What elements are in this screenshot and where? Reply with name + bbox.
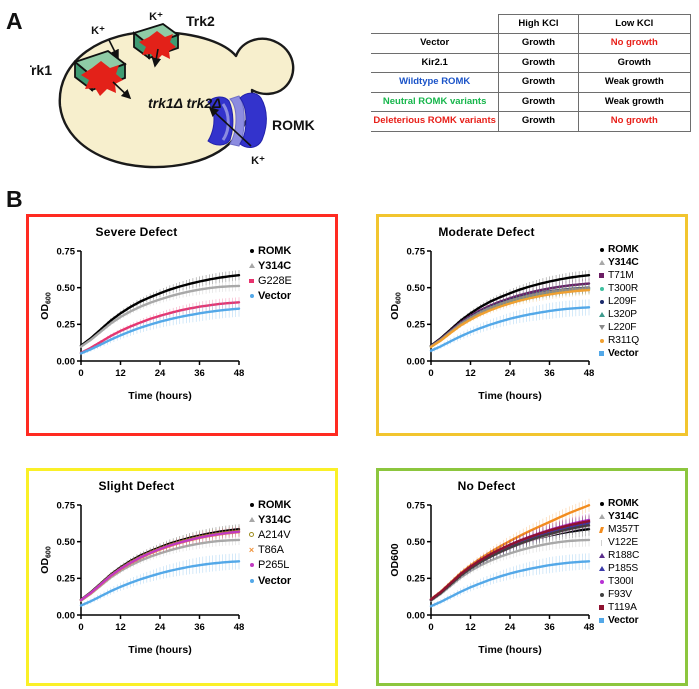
legend-item: T119A	[595, 601, 681, 614]
legend-marker-sq-icon	[599, 351, 604, 356]
legend-marker-wrap	[595, 248, 608, 252]
svg-text:0.50: 0.50	[407, 537, 426, 548]
legend-item: T300I	[595, 575, 681, 588]
legend-item: ROMK	[595, 497, 681, 510]
legend-marker-wrap	[595, 553, 608, 558]
svg-text:24: 24	[505, 368, 516, 379]
legend-label: T119A	[608, 602, 637, 613]
table-row: Wildtype ROMKGrowthWeak growth	[371, 73, 691, 92]
legend-item: Y314C	[595, 510, 681, 523]
legend-label: R311Q	[608, 335, 639, 346]
legend-marker-dot-icon	[250, 294, 254, 298]
table-row: Neutral ROMK variantsGrowthWeak growth	[371, 92, 691, 111]
svg-text:0.50: 0.50	[57, 537, 76, 548]
legend-label: L209F	[608, 296, 636, 307]
legend-marker-wrap	[595, 540, 608, 546]
svg-text:12: 12	[115, 368, 126, 379]
legend-marker-sq-icon	[599, 605, 604, 610]
legend-nodefect: ROMKY314CM357TV122ER188CP185ST300IF93VT1…	[595, 497, 681, 627]
svg-text:OD600: OD600	[39, 292, 53, 320]
svg-text:OD600: OD600	[39, 546, 53, 574]
chart-title: Severe Defect	[29, 225, 244, 239]
legend-marker-tick-icon	[601, 540, 603, 546]
chart-title: Slight Defect	[29, 479, 244, 493]
svg-text:36: 36	[194, 368, 205, 379]
trk2-label: Trk2	[186, 13, 215, 29]
legend-label: T86A	[258, 544, 284, 556]
svg-text:12: 12	[465, 622, 476, 633]
legend-item: R311Q	[595, 334, 681, 347]
table-row-label: Neutral ROMK variants	[371, 92, 499, 111]
legend-label: Vector	[258, 290, 291, 302]
svg-text:Time (hours): Time (hours)	[478, 644, 541, 656]
legend-marker-dot-icon	[600, 300, 604, 304]
legend-marker-tri-icon	[599, 566, 605, 571]
legend-label: V122E	[608, 537, 638, 548]
legend-marker-wrap	[245, 249, 258, 253]
k-label-trk2: K⁺	[149, 11, 163, 23]
legend-item: P185S	[595, 562, 681, 575]
legend-item: L220F	[595, 321, 681, 334]
legend-marker-tri-icon	[249, 263, 255, 268]
legend-item: M357T	[595, 523, 681, 536]
legend-marker-dot-icon	[600, 248, 604, 252]
legend-item: A214V	[245, 527, 331, 542]
svg-text:0.00: 0.00	[407, 356, 426, 367]
legend-label: ROMK	[258, 245, 291, 257]
legend-label: P185S	[608, 563, 638, 574]
legend-marker-dot-icon	[250, 579, 254, 583]
legend-marker-wrap: ×	[245, 546, 258, 555]
svg-text:OD600: OD600	[389, 292, 403, 320]
legend-marker-wrap	[245, 263, 258, 268]
legend-marker-wrap	[595, 260, 608, 265]
legend-item: F93V	[595, 588, 681, 601]
legend-label: Vector	[258, 575, 291, 587]
svg-text:48: 48	[584, 622, 595, 633]
legend-marker-wrap	[595, 566, 608, 571]
legend-item: ×T86A	[245, 543, 331, 558]
legend-marker-wrap	[245, 563, 258, 567]
legend-marker-wrap	[245, 517, 258, 522]
svg-text:24: 24	[155, 368, 166, 379]
legend-marker-wrap	[595, 312, 608, 317]
table-header-row: High KCl Low KCl	[371, 15, 691, 34]
table-cell-low-kcl: Weak growth	[578, 92, 690, 111]
svg-text:48: 48	[234, 368, 245, 379]
legend-marker-wrap	[595, 351, 608, 356]
legend-marker-wrap	[595, 580, 608, 584]
legend-label: ROMK	[258, 499, 291, 511]
svg-text:0: 0	[78, 622, 83, 633]
legend-item: T71M	[595, 269, 681, 282]
legend-label: T71M	[608, 270, 634, 281]
table-row: VectorGrowthNo growth	[371, 34, 691, 53]
legend-marker-wrap	[595, 300, 608, 304]
chart-title: No Defect	[379, 479, 594, 493]
svg-text:0.75: 0.75	[57, 500, 76, 511]
legend-marker-dot-icon	[250, 249, 254, 253]
svg-text:Time (hours): Time (hours)	[128, 644, 191, 656]
legend-marker-dot-icon	[600, 287, 604, 291]
svg-text:0.25: 0.25	[407, 574, 426, 585]
chart-card-slight-defect: Slight Defect 0.000.250.500.75012243648T…	[26, 468, 338, 686]
legend-marker-wrap	[595, 273, 608, 278]
table-row: Kir2.1GrowthGrowth	[371, 53, 691, 72]
legend-marker-tri-icon	[599, 514, 605, 519]
table-cell-low-kcl: No growth	[578, 112, 690, 131]
trk1-label: Trk1	[30, 62, 52, 78]
svg-text:0.25: 0.25	[57, 574, 76, 585]
svg-text:12: 12	[465, 368, 476, 379]
svg-text:36: 36	[544, 622, 555, 633]
svg-text:0.75: 0.75	[407, 500, 426, 511]
legend-marker-wrap	[595, 502, 608, 506]
legend-item: G228E	[245, 273, 331, 288]
legend-marker-tri-icon	[599, 312, 605, 317]
legend-item: L320P	[595, 308, 681, 321]
legend-label: Y314C	[608, 511, 639, 522]
legend-marker-wrap	[595, 339, 608, 343]
svg-text:0.00: 0.00	[57, 356, 76, 367]
legend-label: A214V	[258, 529, 291, 541]
legend-label: Vector	[608, 615, 639, 626]
svg-text:48: 48	[584, 368, 595, 379]
legend-label: ROMK	[608, 498, 639, 509]
legend-label: P265L	[258, 559, 289, 571]
chart-title: Moderate Defect	[379, 225, 594, 239]
legend-item: T300R	[595, 282, 681, 295]
plot-nodefect: 0.000.250.500.75012243648Time (hours)OD6…	[387, 497, 595, 657]
svg-text:0: 0	[428, 368, 433, 379]
legend-label: F93V	[608, 589, 632, 600]
plot-moderate: 0.000.250.500.75012243648Time (hours)OD6…	[387, 243, 595, 403]
legend-item: ROMK	[245, 497, 331, 512]
table-row-label: Wildtype ROMK	[371, 73, 499, 92]
table-cell-high-kcl: Growth	[499, 92, 578, 111]
svg-text:36: 36	[544, 368, 555, 379]
svg-text:24: 24	[155, 622, 166, 633]
legend-marker-trid-icon	[599, 325, 605, 330]
legend-item: Y314C	[595, 256, 681, 269]
table-cell-high-kcl: Growth	[499, 112, 578, 131]
legend-label: T300R	[608, 283, 638, 294]
legend-label: ROMK	[608, 244, 639, 255]
svg-text:0.25: 0.25	[407, 320, 426, 331]
legend-marker-tri-icon	[599, 553, 605, 558]
legend-item: Y314C	[245, 512, 331, 527]
svg-text:0.25: 0.25	[57, 320, 76, 331]
legend-marker-dot-icon	[600, 502, 604, 506]
legend-item: ROMK	[245, 243, 331, 258]
legend-label: Y314C	[258, 260, 291, 272]
legend-marker-wrap	[245, 503, 258, 507]
table-cell-high-kcl: Growth	[499, 53, 578, 72]
chart-card-severe-defect: Severe Defect 0.000.250.500.75012243648T…	[26, 214, 338, 436]
table-cell-high-kcl: Growth	[499, 34, 578, 53]
legend-marker-tri-icon	[249, 517, 255, 522]
svg-text:24: 24	[505, 622, 516, 633]
legend-marker-sq-icon	[599, 273, 604, 278]
legend-label: T300I	[608, 576, 634, 587]
legend-label: Y314C	[608, 257, 639, 268]
legend-marker-dot-icon	[250, 563, 254, 567]
table-cell-low-kcl: Weak growth	[578, 73, 690, 92]
legend-marker-wrap	[245, 579, 258, 583]
legend-label: M357T	[608, 524, 639, 535]
legend-severe: ROMKY314CG228EVector	[245, 243, 331, 304]
svg-text:OD600: OD600	[389, 543, 401, 576]
legend-marker-sq-icon	[249, 279, 254, 284]
legend-item: Vector	[245, 289, 331, 304]
legend-label: Y314C	[258, 514, 291, 526]
svg-text:0: 0	[428, 622, 433, 633]
table-row-label: Deleterious ROMK variants	[371, 112, 499, 131]
plot-slight: 0.000.250.500.75012243648Time (hours)OD6…	[37, 497, 245, 657]
romk-label: ROMK	[272, 117, 315, 133]
legend-marker-dot-icon	[600, 580, 604, 584]
legend-item: P265L	[245, 558, 331, 573]
table-row-label: Vector	[371, 34, 499, 53]
svg-text:Time (hours): Time (hours)	[478, 390, 541, 402]
legend-marker-tri-icon	[599, 260, 605, 265]
k-label-romk: K⁺	[251, 155, 265, 167]
legend-item: Vector	[595, 347, 681, 360]
legend-marker-wrap	[595, 527, 608, 533]
table-cell-low-kcl: Growth	[578, 53, 690, 72]
legend-marker-wrap	[245, 532, 258, 537]
legend-item: R188C	[595, 549, 681, 562]
k-label-trk1: K⁺	[91, 25, 105, 37]
legend-item: V122E	[595, 536, 681, 549]
legend-item: ROMK	[595, 243, 681, 256]
column-header-low-kcl: Low KCl	[578, 15, 690, 34]
legend-marker-wrap	[595, 325, 608, 330]
legend-marker-dot-icon	[250, 503, 254, 507]
legend-marker-wrap	[595, 593, 608, 597]
table-row: Deleterious ROMK variantsGrowthNo growth	[371, 112, 691, 131]
legend-item: Vector	[595, 614, 681, 627]
growth-summary-table: High KCl Low KCl VectorGrowthNo growthKi…	[371, 14, 691, 132]
svg-text:0: 0	[78, 368, 83, 379]
chart-card-no-defect: No Defect 0.000.250.500.75012243648Time …	[376, 468, 688, 686]
svg-text:0.00: 0.00	[407, 610, 426, 621]
legend-label: L220F	[608, 322, 636, 333]
legend-marker-wrap	[595, 618, 608, 623]
svg-text:Time (hours): Time (hours)	[128, 390, 191, 402]
legend-marker-wrap	[245, 279, 258, 284]
panel-letter-a: A	[6, 8, 23, 35]
legend-item: Vector	[245, 573, 331, 588]
legend-marker-dot-icon	[600, 593, 604, 597]
legend-marker-wrap	[595, 287, 608, 291]
legend-marker-x-icon: ×	[249, 546, 254, 555]
column-header-high-kcl: High KCl	[499, 15, 578, 34]
plot-severe: 0.000.250.500.75012243648Time (hours)OD6…	[37, 243, 245, 403]
svg-text:0.50: 0.50	[407, 283, 426, 294]
legend-marker-bar-icon	[599, 527, 604, 533]
legend-label: L320P	[608, 309, 637, 320]
legend-marker-wrap	[595, 605, 608, 610]
legend-marker-wrap	[245, 294, 258, 298]
legend-label: R188C	[608, 550, 639, 561]
legend-item: Y314C	[245, 258, 331, 273]
svg-text:0.75: 0.75	[407, 246, 426, 257]
yeast-cell-diagram: Trk1 Trk2 ROMK K⁺ K⁺ K⁺ trk1Δ trk2Δ	[30, 6, 330, 181]
table-row-label: Kir2.1	[371, 53, 499, 72]
svg-text:0.00: 0.00	[57, 610, 76, 621]
svg-text:0.75: 0.75	[57, 246, 76, 257]
legend-label: G228E	[258, 275, 292, 287]
panel-letter-b: B	[6, 186, 23, 213]
legend-slight: ROMKY314CA214V×T86AP265LVector	[245, 497, 331, 588]
legend-marker-sq-icon	[599, 618, 604, 623]
chart-card-moderate-defect: Moderate Defect 0.000.250.500.7501224364…	[376, 214, 688, 436]
table-cell-low-kcl: No growth	[578, 34, 690, 53]
legend-marker-circ-icon	[249, 532, 254, 537]
table-cell-high-kcl: Growth	[499, 73, 578, 92]
svg-text:48: 48	[234, 622, 245, 633]
legend-marker-dot-icon	[600, 339, 604, 343]
legend-marker-wrap	[595, 514, 608, 519]
legend-moderate: ROMKY314CT71MT300RL209FL320PL220FR311QVe…	[595, 243, 681, 360]
legend-item: L209F	[595, 295, 681, 308]
svg-text:36: 36	[194, 622, 205, 633]
table-corner-cell	[371, 15, 499, 34]
svg-text:0.50: 0.50	[57, 283, 76, 294]
svg-text:12: 12	[115, 622, 126, 633]
legend-label: Vector	[608, 348, 639, 359]
genotype-label: trk1Δ trk2Δ	[148, 95, 222, 111]
